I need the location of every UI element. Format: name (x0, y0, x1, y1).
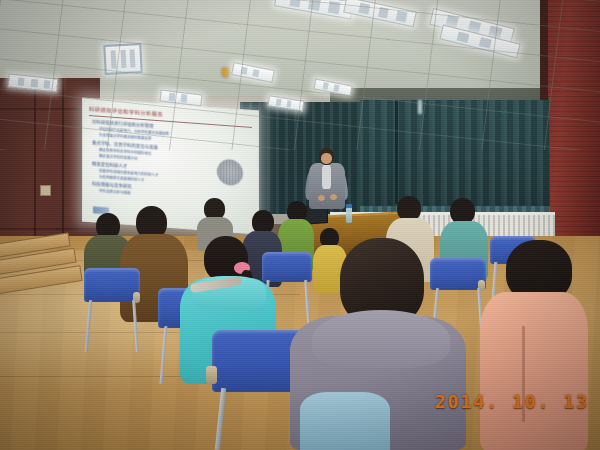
torso (300, 392, 390, 450)
hoodie-hood (312, 310, 450, 368)
photograph: 科研绩效评估和学科分析服务 对科研现状进行评估和分析管理 评估科研产出影响力、分… (0, 0, 600, 450)
torso (480, 292, 588, 450)
wall-switch-plate[interactable] (40, 185, 51, 196)
camera-date-stamp: 2014. 10. 13 (435, 392, 589, 413)
ceiling-grid (0, 0, 600, 150)
chair[interactable] (84, 268, 140, 352)
presenter-hand-left (318, 195, 325, 201)
presenter (305, 148, 351, 214)
presenter-hand-right (330, 194, 337, 200)
presenter-shirt (322, 165, 331, 189)
presenter-face (321, 153, 332, 164)
